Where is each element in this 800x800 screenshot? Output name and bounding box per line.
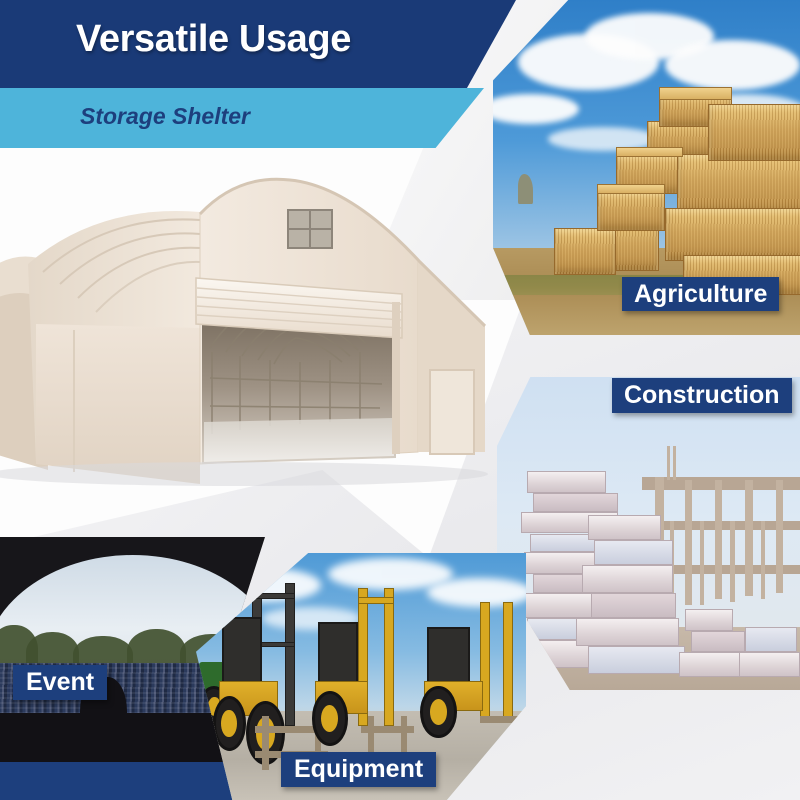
forklift-tire bbox=[420, 686, 456, 738]
badge-agriculture[interactable]: Agriculture bbox=[622, 277, 779, 311]
badge-equipment[interactable]: Equipment bbox=[281, 752, 436, 787]
forklift-crossbar bbox=[358, 597, 394, 603]
interior-floor bbox=[204, 418, 394, 462]
forklift-mast bbox=[503, 602, 513, 721]
storage-shelter-render bbox=[0, 152, 548, 512]
forklift-cab bbox=[318, 622, 358, 686]
concrete-block bbox=[582, 565, 673, 593]
page-subtitle: Storage Shelter bbox=[80, 103, 250, 130]
hay-bale-top bbox=[616, 147, 684, 157]
forklift-cab bbox=[222, 617, 262, 686]
ground-shadow bbox=[0, 462, 488, 486]
hay-bale bbox=[597, 191, 665, 231]
scaffold-pole bbox=[761, 521, 765, 599]
concrete-block bbox=[594, 540, 673, 565]
scaffold-pole bbox=[730, 521, 734, 602]
concrete-block bbox=[691, 631, 746, 653]
structure-column bbox=[715, 480, 722, 599]
forklift-cab bbox=[427, 627, 470, 686]
structure-column bbox=[776, 480, 783, 593]
concrete-block bbox=[588, 646, 685, 674]
badge-construction[interactable]: Construction bbox=[612, 378, 792, 413]
concrete-block bbox=[679, 652, 746, 677]
structure-column bbox=[745, 480, 752, 596]
shelter-side-wall bbox=[36, 324, 200, 484]
structure-column bbox=[685, 480, 692, 605]
forklift-fork bbox=[262, 716, 269, 770]
hay-bale bbox=[554, 228, 615, 275]
rebar bbox=[673, 446, 676, 480]
forklift-mast bbox=[285, 583, 295, 726]
page-title: Versatile Usage bbox=[76, 18, 351, 61]
badge-event[interactable]: Event bbox=[13, 665, 107, 700]
concrete-block bbox=[591, 593, 676, 618]
poster-canvas: Versatile Usage Storage Shelter Agricult… bbox=[0, 0, 800, 800]
hay-bale bbox=[708, 104, 800, 161]
concrete-block bbox=[745, 627, 797, 652]
scaffold-pole bbox=[700, 521, 704, 606]
hay-bale bbox=[677, 154, 800, 214]
door-track bbox=[392, 302, 400, 454]
forklift-mast bbox=[384, 588, 394, 726]
hay-bale-top bbox=[597, 184, 665, 194]
concrete-block bbox=[576, 618, 679, 646]
concrete-block bbox=[588, 515, 661, 540]
cloud-shape bbox=[665, 40, 800, 90]
concrete-block bbox=[739, 652, 800, 677]
personnel-door bbox=[430, 370, 474, 454]
hay-bale-top bbox=[659, 87, 733, 100]
rebar bbox=[667, 446, 670, 480]
forklift-tire bbox=[312, 691, 348, 745]
concrete-block bbox=[685, 609, 733, 631]
hay-bale bbox=[665, 208, 800, 262]
